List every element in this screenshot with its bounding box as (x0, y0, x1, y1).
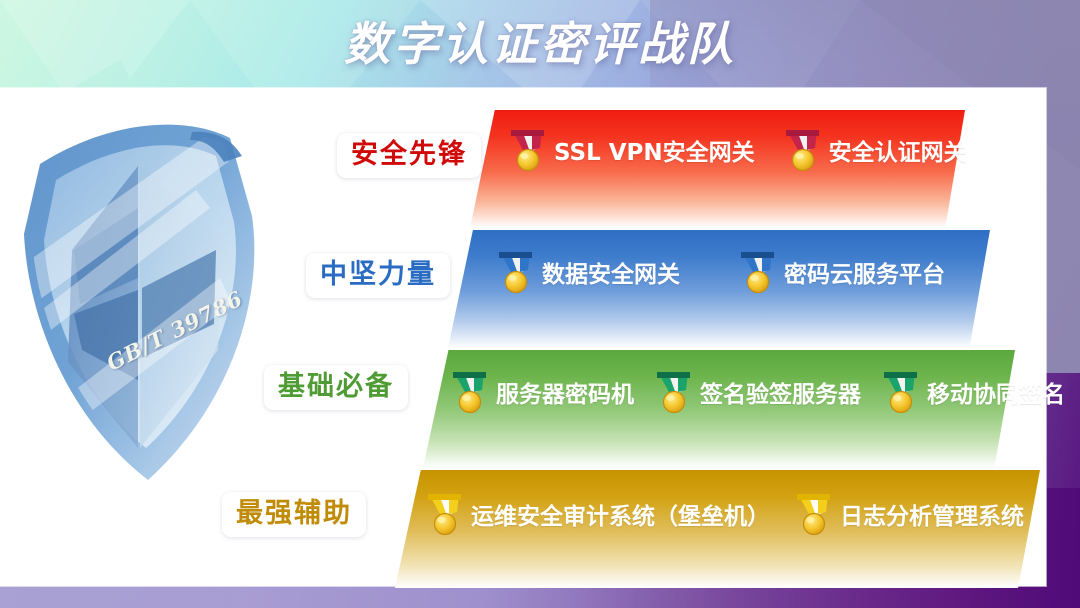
list-item-label: 密码云服务平台 (784, 255, 945, 289)
page-title: 数字认证密评战队 (0, 8, 1080, 74)
list-item[interactable]: 密码云服务平台 (738, 250, 945, 294)
list-item[interactable]: 移动协同签名 (881, 370, 1065, 414)
medal-icon (794, 492, 834, 536)
list-item-label: SSL VPN安全网关 (554, 133, 755, 167)
list-item-label: 日志分析管理系统 (840, 497, 1024, 531)
list-item-label: 数据安全网关 (542, 255, 680, 289)
list-item[interactable]: 安全认证网关 (783, 128, 967, 172)
tier-items-3: 服务器密码机 签名验签服务器 (450, 370, 1065, 414)
tier-items-4: 运维安全审计系统（堡垒机） 日志分析管理系统 (425, 492, 1024, 536)
medal-icon (425, 492, 465, 536)
medal-icon (654, 370, 694, 414)
list-item-label: 服务器密码机 (496, 375, 634, 409)
medal-icon (738, 250, 778, 294)
list-item-label: 运维安全审计系统（堡垒机） (471, 497, 770, 531)
tier-label-1[interactable]: 安全先锋 (337, 133, 481, 178)
list-item-label: 移动协同签名 (927, 375, 1065, 409)
list-item[interactable]: 日志分析管理系统 (794, 492, 1024, 536)
medal-icon (783, 128, 823, 172)
list-item[interactable]: 服务器密码机 (450, 370, 634, 414)
list-item-label: 签名验签服务器 (700, 375, 861, 409)
list-item[interactable]: 数据安全网关 (496, 250, 680, 294)
medal-icon (496, 250, 536, 294)
list-item[interactable]: SSL VPN安全网关 (508, 128, 755, 172)
medal-icon (508, 128, 548, 172)
tier-label-3[interactable]: 基础必备 (264, 365, 408, 410)
medal-icon (881, 370, 921, 414)
tier-label-2[interactable]: 中坚力量 (306, 253, 450, 298)
list-item[interactable]: 签名验签服务器 (654, 370, 861, 414)
tier-label-4[interactable]: 最强辅助 (222, 492, 366, 537)
tier-items-1: SSL VPN安全网关 安全认证网关 (508, 128, 967, 172)
list-item-label: 安全认证网关 (829, 133, 967, 167)
tier-items-2: 数据安全网关 密码云服务平台 (496, 250, 945, 294)
medal-icon (450, 370, 490, 414)
list-item[interactable]: 运维安全审计系统（堡垒机） (425, 492, 770, 536)
